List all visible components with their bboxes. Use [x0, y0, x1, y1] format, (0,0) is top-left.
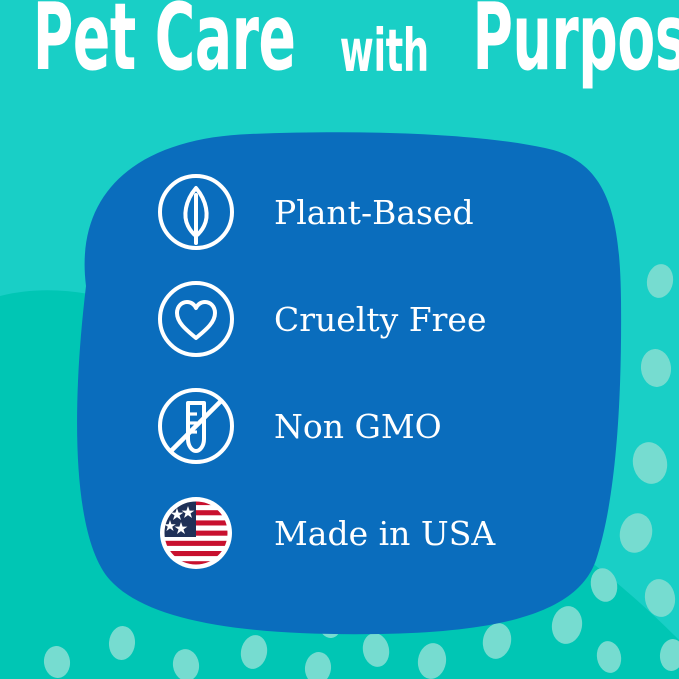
no-test-tube-icon [155, 385, 237, 467]
feature-list: Plant-Based Cruelty Free [155, 168, 585, 596]
feature-label-plant-based: Plant-Based [274, 196, 474, 229]
feature-row-plant-based: Plant-Based [155, 168, 585, 256]
leaf-circle-icon [155, 171, 237, 253]
pet-care-promo-graphic: Pet CarewithPurpose® Plant-Based [0, 0, 679, 679]
feature-row-cruelty-free: Cruelty Free [155, 275, 585, 363]
heart-circle-icon [155, 278, 237, 360]
feature-label-cruelty-free: Cruelty Free [274, 303, 487, 336]
feature-label-made-in-usa: Made in USA [274, 517, 495, 550]
feature-row-made-in-usa: Made in USA [155, 489, 585, 577]
feature-label-non-gmo: Non GMO [274, 410, 442, 443]
usa-flag-circle-icon [155, 492, 237, 574]
feature-row-non-gmo: Non GMO [155, 382, 585, 470]
